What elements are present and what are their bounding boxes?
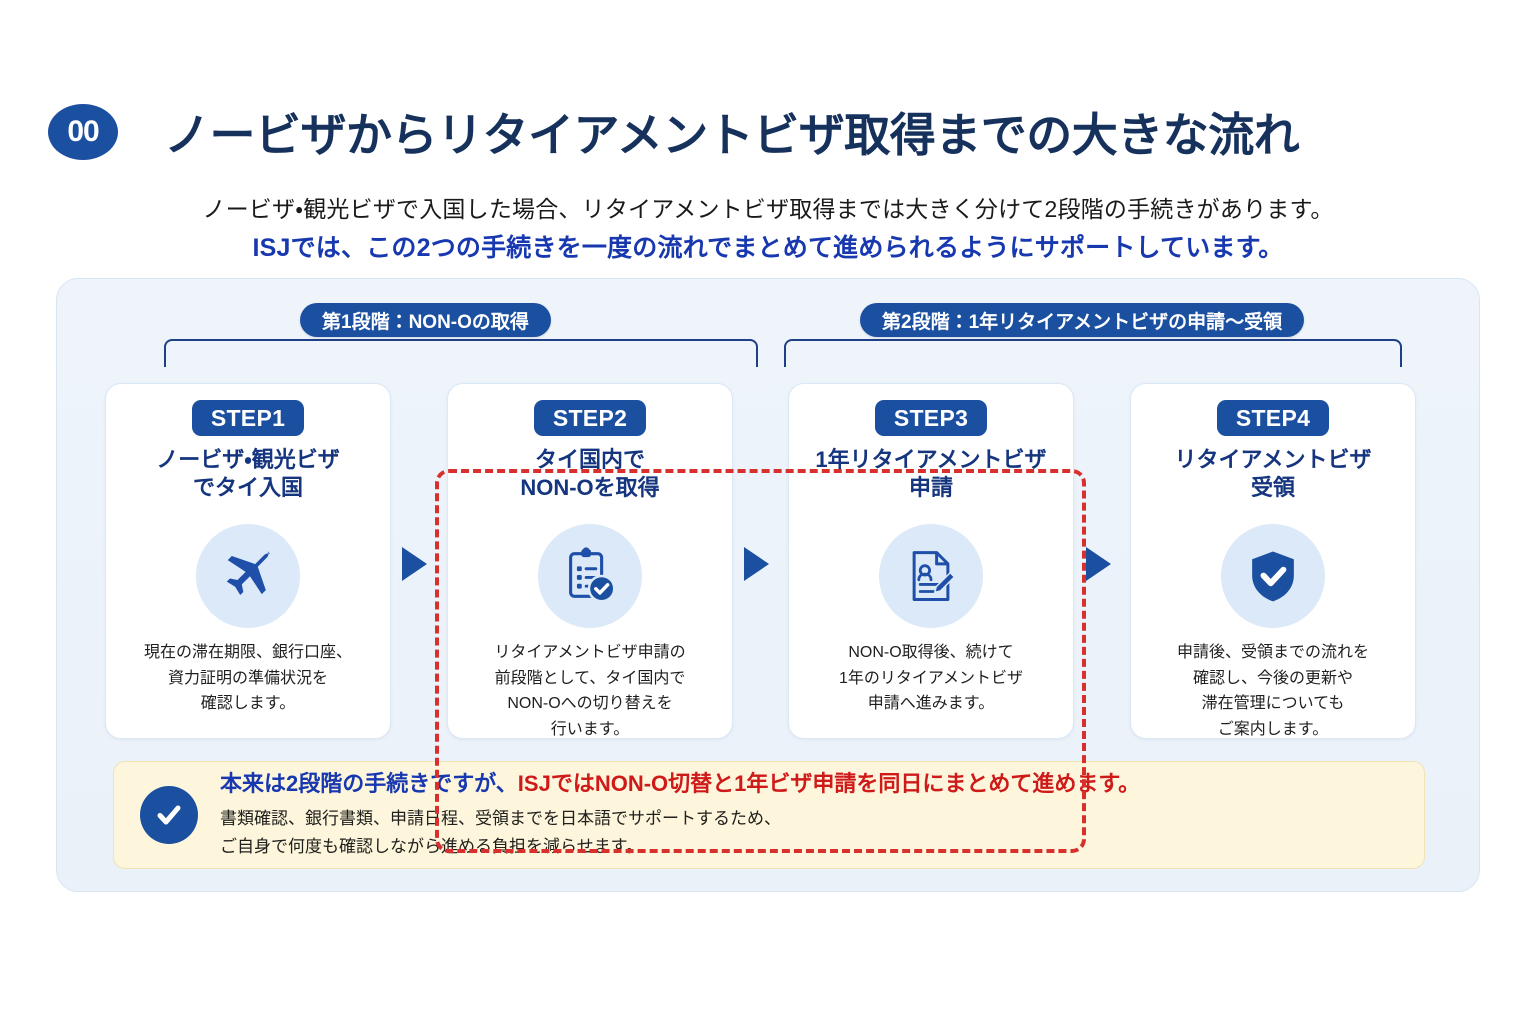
phase-1-bracket [164,339,758,367]
step-2-desc-line-4: 行います。 [458,717,722,743]
step-4-badge: STEP4 [1217,400,1329,436]
section-number-badge: 00 [48,104,118,160]
step-2-description: リタイアメントビザ申請の 前段階として、タイ国内で NON-Oへの切り替えを 行… [458,640,722,742]
subtitle-line-2: ISJでは、この2つの手続きを一度の流れでまとめて進められるようにサポートしてい… [0,228,1536,264]
step-1-desc-line-3: 確認します。 [116,691,380,717]
steps-row: STEP1 ノービザ・観光ビザ でタイ入国 現在の滞在期限、銀行口座、 資力証明… [57,375,1479,747]
page-title: ノービザからリタイアメントビザ取得までの大きな流れ [164,99,1299,165]
summary-note-headline: 本来は2段階の手続きですが、ISJではNON-O切替と1年ビザ申請を同日にまとめ… [220,769,1398,799]
summary-note-headline-red: ISJではNON-O切替と1年ビザ申請を同日にまとめて進めます。 [518,771,1140,796]
check-circle-icon [140,786,198,844]
step-2-desc-line-3: NON-Oへの切り替えを [458,691,722,717]
step-card-1[interactable]: STEP1 ノービザ・観光ビザ でタイ入国 現在の滞在期限、銀行口座、 資力証明… [105,383,391,739]
summary-note-headline-blue: 本来は2段階の手続きですが、 [220,771,518,796]
step-4-description: 申請後、受領までの流れを 確認し、今後の更新や 滞在管理についても ご案内します… [1141,640,1405,742]
step-4-title: リタイアメントビザ 受領 [1139,446,1407,502]
summary-note-body: 本来は2段階の手続きですが、ISJではNON-O切替と1年ビザ申請を同日にまとめ… [220,769,1398,861]
step-2-title-line-1: タイ国内で [456,446,724,474]
step-2-desc-line-1: リタイアメントビザ申請の [458,640,722,666]
arrow-step1-to-step2-icon [402,547,427,581]
step-3-description: NON-O取得後、続けて 1年のリタイアメントビザ 申請へ進みます。 [799,640,1063,717]
step-1-title-line-2: でタイ入国 [114,474,382,502]
clipboard-check-icon [559,545,621,607]
subtitle-line-1: ノービザ・観光ビザで入国した場合、リタイアメントビザ取得までは大きく分けて2段階… [0,190,1536,224]
step-3-title-line-2: 申請 [797,474,1065,502]
step-1-icon-circle [196,524,300,628]
step-4-desc-line-2: 確認し、今後の更新や [1141,666,1405,692]
step-4-title-line-1: リタイアメントビザ [1139,446,1407,474]
summary-note-subtext-line-2: ご自身で何度も確認しながら進める負担を減らせます。 [220,833,1398,861]
step-2-desc-line-2: 前段階として、タイ国内で [458,666,722,692]
step-1-description: 現在の滞在期限、銀行口座、 資力証明の準備状況を 確認します。 [116,640,380,717]
step-4-title-line-2: 受領 [1139,474,1407,502]
step-2-title: タイ国内で NON-Oを取得 [456,446,724,502]
step-2-badge: STEP2 [534,400,646,436]
shield-check-icon [1244,547,1302,605]
step-2-icon-circle [538,524,642,628]
phase-1-label: 第1段階：NON-Oの取得 [300,303,551,337]
step-card-4[interactable]: STEP4 リタイアメントビザ 受領 申請後、受領までの流れを 確認し、今後の更… [1130,383,1416,739]
step-4-desc-line-1: 申請後、受領までの流れを [1141,640,1405,666]
step-3-title: 1年リタイアメントビザ 申請 [797,446,1065,502]
step-4-icon-circle [1221,524,1325,628]
step-3-desc-line-2: 1年のリタイアメントビザ [799,666,1063,692]
summary-note-subtext: 書類確認、銀行書類、申請日程、受領までを日本語でサポートするため、 ご自身で何度… [220,805,1398,861]
arrow-step3-to-step4-icon [1086,547,1111,581]
step-3-desc-line-3: 申請へ進みます。 [799,691,1063,717]
step-3-badge: STEP3 [875,400,987,436]
step-card-2[interactable]: STEP2 タイ国内で NON-Oを取得 [447,383,733,739]
step-1-desc-line-2: 資力証明の準備状況を [116,666,380,692]
document-pen-icon [901,546,961,606]
step-card-3[interactable]: STEP3 1年リタイアメントビザ 申請 [788,383,1074,739]
summary-note-subtext-line-1: 書類確認、銀行書類、申請日程、受領までを日本語でサポートするため、 [220,805,1398,833]
phase-2-label: 第2段階：1年リタイアメントビザの申請〜受領 [860,303,1304,337]
step-3-title-line-1: 1年リタイアメントビザ [797,446,1065,474]
step-1-title-line-1: ノービザ・観光ビザ [114,446,382,474]
page-header: 00 ノービザからリタイアメントビザ取得までの大きな流れ [48,98,1488,166]
arrow-step2-to-step3-icon [744,547,769,581]
step-1-desc-line-1: 現在の滞在期限、銀行口座、 [116,640,380,666]
step-3-desc-line-1: NON-O取得後、続けて [799,640,1063,666]
airplane-icon [218,546,278,606]
flow-panel: 第1段階：NON-Oの取得 第2段階：1年リタイアメントビザの申請〜受領 STE… [56,278,1480,892]
step-2-title-line-2: NON-Oを取得 [456,474,724,502]
step-1-badge: STEP1 [192,400,304,436]
step-4-desc-line-4: ご案内します。 [1141,717,1405,743]
phase-2-bracket [784,339,1402,367]
step-4-desc-line-3: 滞在管理についても [1141,691,1405,717]
summary-note-box: 本来は2段階の手続きですが、ISJではNON-O切替と1年ビザ申請を同日にまとめ… [113,761,1425,869]
step-3-icon-circle [879,524,983,628]
step-1-title: ノービザ・観光ビザ でタイ入国 [114,446,382,502]
